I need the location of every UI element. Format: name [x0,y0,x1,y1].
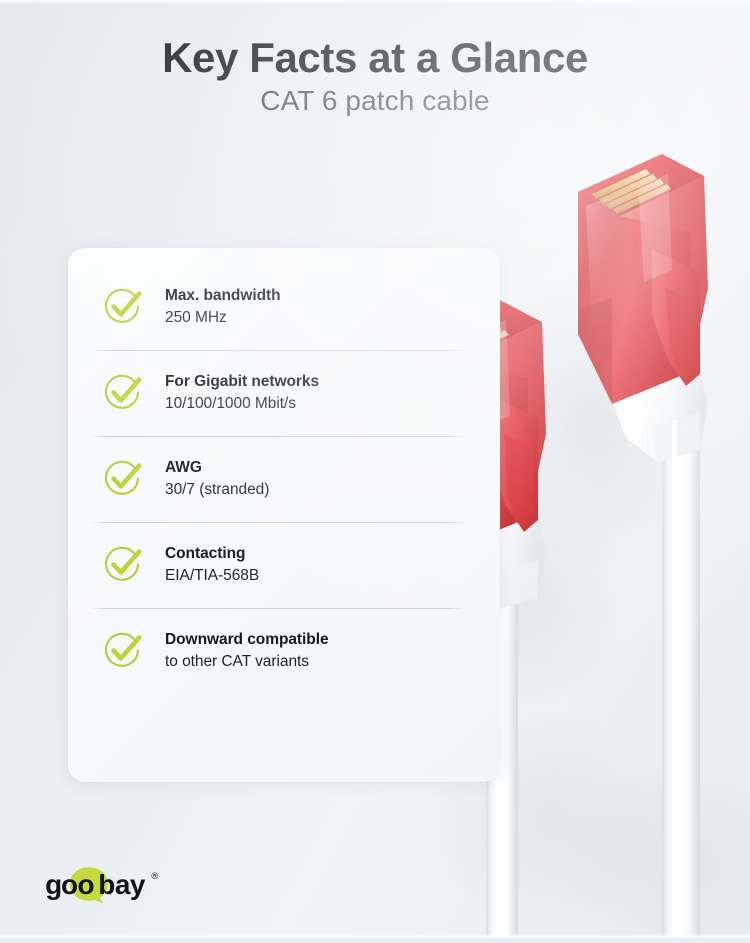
check-circle-icon [101,629,145,673]
page-subtitle: CAT 6 patch cable [0,85,750,117]
list-item: AWG 30/7 (stranded) [68,436,500,522]
bottom-edge-highlight [0,933,750,938]
fact-value: 30/7 (stranded) [165,479,269,500]
fact-texts: Max. bandwidth 250 MHz [165,286,281,328]
fact-texts: AWG 30/7 (stranded) [165,458,269,500]
logo-text-bay: bay [98,869,146,900]
check-circle-icon [101,371,145,415]
check-circle-icon [101,285,145,329]
fact-texts: Contacting EIA/TIA-568B [165,544,259,586]
fact-title: Downward compatible [165,631,329,648]
fact-title: AWG [165,459,202,476]
logo-text-g: g [45,869,62,900]
goobay-logo: g oo bay ® [45,864,185,904]
fact-value: 10/100/1000 Mbit/s [165,393,319,414]
list-item: For Gigabit networks 10/100/1000 Mbit/s [68,350,500,436]
fact-value: to other CAT variants [165,651,329,672]
fact-title: For Gigabit networks [165,373,319,390]
check-circle-icon [101,457,145,501]
infographic-page: Key Facts at a Glance CAT 6 patch cable … [0,0,750,938]
fact-value: 250 MHz [165,307,281,328]
header: Key Facts at a Glance CAT 6 patch cable [0,34,750,117]
logo-text-oo: oo [61,869,94,900]
list-item: Downward compatible to other CAT variant… [68,608,500,694]
rj45-connector-red-upper [578,154,708,938]
facts-list: Max. bandwidth 250 MHz For Gigabit netwo… [68,248,500,704]
list-item: Contacting EIA/TIA-568B [68,522,500,608]
logo-registered-mark: ® [151,871,158,881]
list-item: Max. bandwidth 250 MHz [68,264,500,350]
fact-value: EIA/TIA-568B [165,565,259,586]
check-circle-icon [101,543,145,587]
fact-title: Contacting [165,545,245,562]
fact-texts: Downward compatible to other CAT variant… [165,630,329,672]
key-facts-card: Max. bandwidth 250 MHz For Gigabit netwo… [68,248,500,782]
page-title: Key Facts at a Glance [0,34,750,81]
top-edge-highlight [0,0,750,4]
fact-title: Max. bandwidth [165,287,281,304]
fact-texts: For Gigabit networks 10/100/1000 Mbit/s [165,372,319,414]
